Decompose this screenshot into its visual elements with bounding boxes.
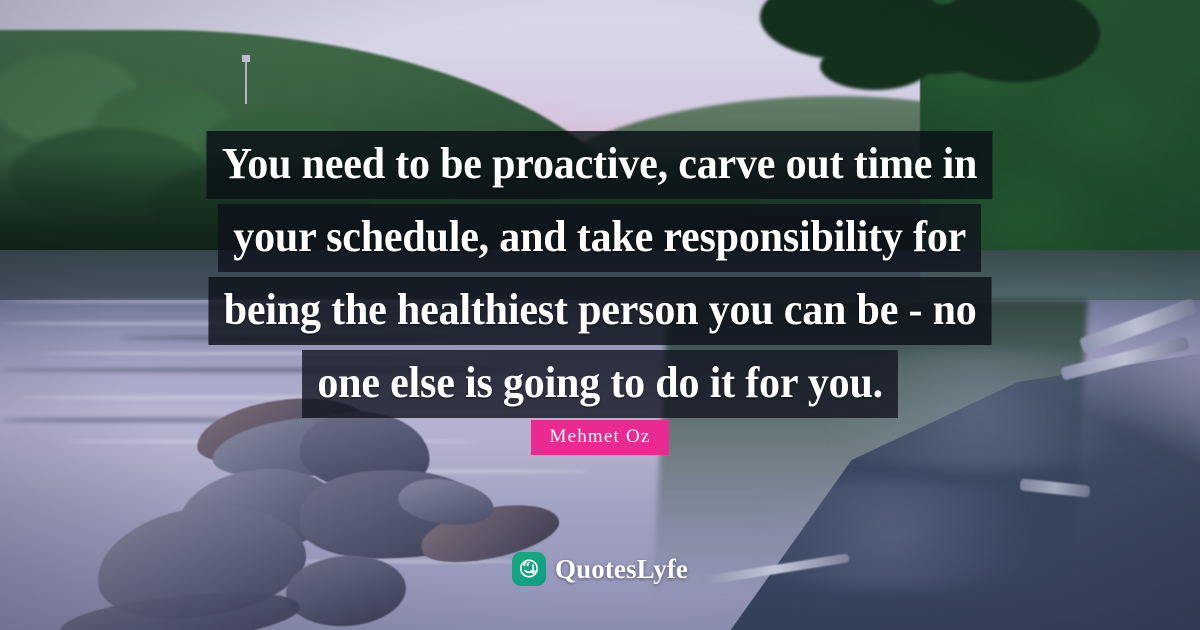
quote-line: You need to be proactive, carve out time… [207,131,993,199]
quote-smiley-icon [512,552,546,586]
overhanging-branch [820,42,930,90]
author-badge[interactable]: Mehmet Oz [531,420,668,455]
brand-logo[interactable]: QuotesLyfe [0,552,1200,586]
quote-line: your schedule, and take responsibility f… [218,204,981,272]
quote-line: one else is going to do it for you. [302,350,898,418]
quote-line: being the healthiest person you can be -… [208,277,991,345]
author-attribution: Mehmet Oz [0,420,1200,455]
radio-mast-top [242,55,250,62]
quote-text: You need to be proactive, carve out time… [0,131,1200,423]
radio-mast [245,58,247,104]
quote-card: You need to be proactive, carve out time… [0,0,1200,630]
brand-name: QuotesLyfe [555,554,688,585]
